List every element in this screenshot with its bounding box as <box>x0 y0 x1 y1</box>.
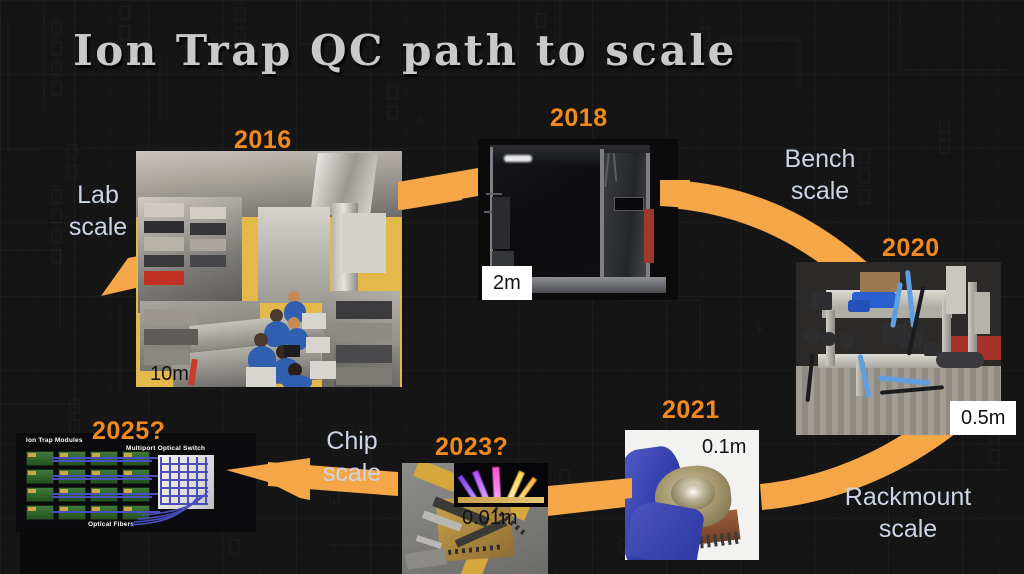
scale-label-lab-line2: scale <box>52 212 144 244</box>
year-label-2025: 2025? <box>92 417 165 446</box>
year-label-2016: 2016 <box>234 126 292 155</box>
slide-canvas: Ion Trap QC path to scale <box>0 0 1024 574</box>
year-label-2023: 2023? <box>435 433 508 462</box>
scale-label-bench-line2: scale <box>762 176 878 208</box>
scale-label-rackmount-line2: scale <box>828 514 988 546</box>
scale-label-lab-line1: Lab <box>52 180 144 212</box>
scale-label-rackmount-line1: Rackmount <box>828 482 988 514</box>
measurement-0-1m: 0.1m <box>702 437 746 457</box>
measurement-0-01m: 0.01m <box>462 508 518 528</box>
scale-label-chip: Chip scale <box>318 426 386 489</box>
scale-label-chip-line1: Chip <box>318 426 386 458</box>
year-label-2021: 2021 <box>662 396 720 425</box>
scale-label-bench: Bench scale <box>762 144 878 207</box>
measurement-2m: 2m <box>482 266 532 300</box>
year-label-2020: 2020 <box>882 234 940 263</box>
measurement-10m: 10m <box>150 364 189 384</box>
measurement-0-5m: 0.5m <box>950 401 1016 435</box>
scale-label-lab: Lab scale <box>52 180 144 243</box>
scale-label-bench-line1: Bench <box>762 144 878 176</box>
year-label-2018: 2018 <box>550 104 608 133</box>
scale-label-chip-line2: scale <box>318 458 386 490</box>
scale-label-rackmount: Rackmount scale <box>828 482 988 545</box>
